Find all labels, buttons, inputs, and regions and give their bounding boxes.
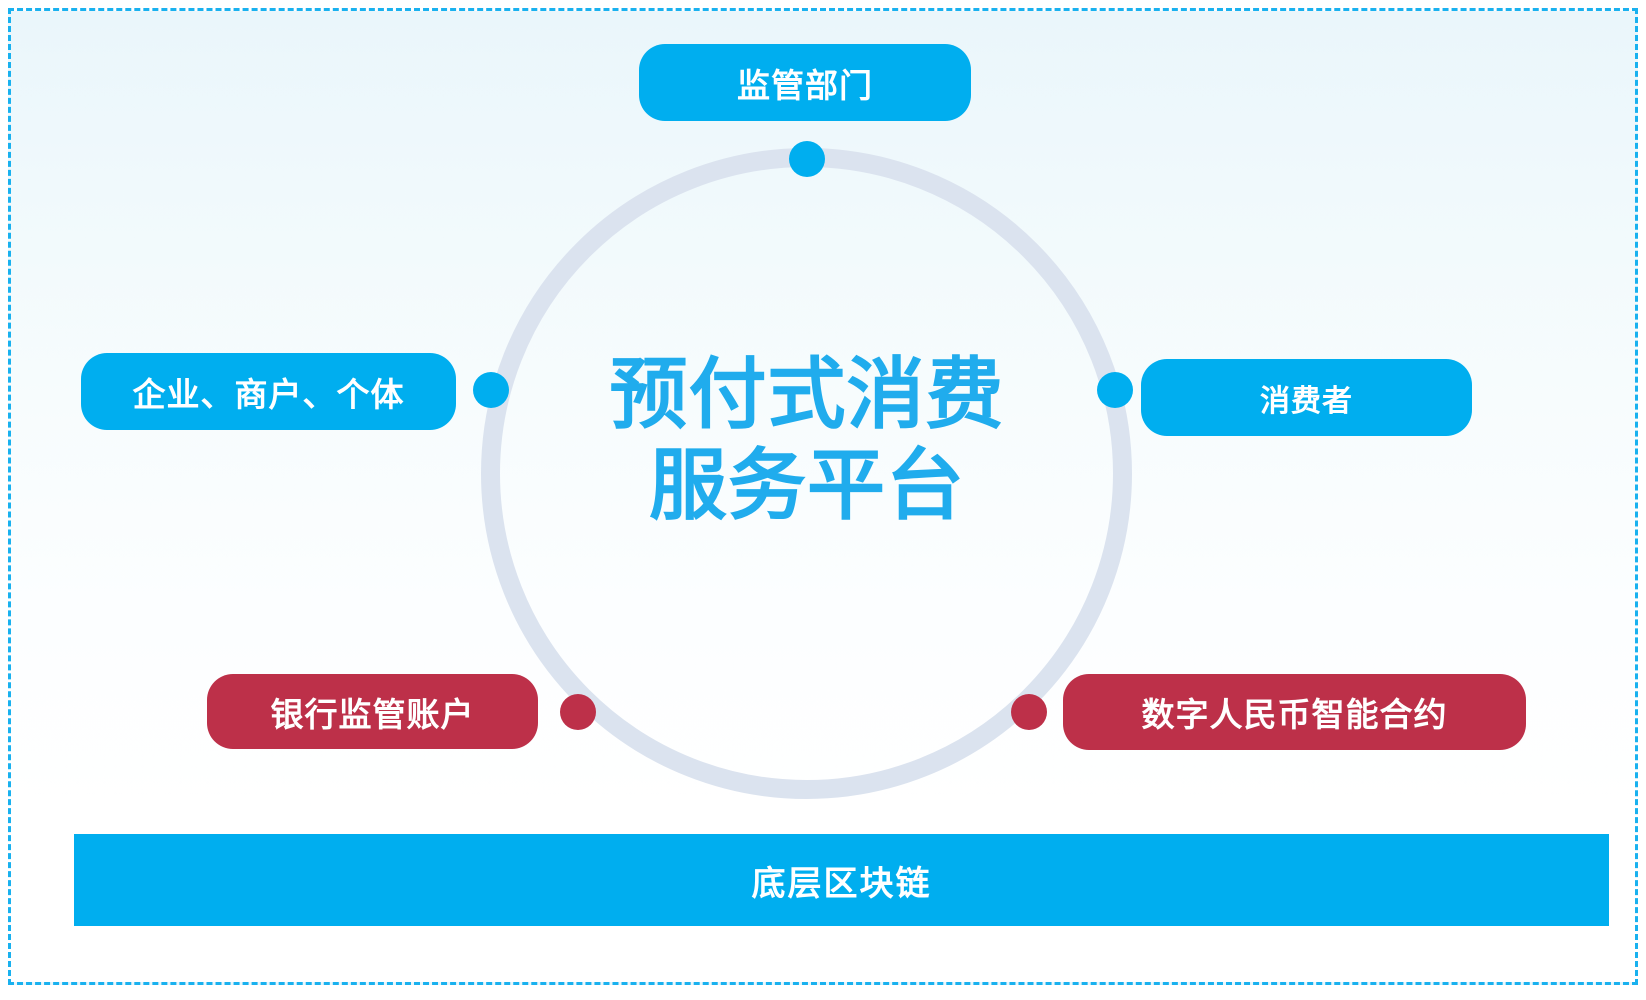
node-consumers-label: 消费者 (1260, 376, 1353, 420)
connector-dot-consumers (1097, 372, 1133, 408)
node-regulator[interactable]: 监管部门 (639, 44, 971, 121)
node-smart-contract[interactable]: 数字人民币智能合约 (1063, 674, 1526, 750)
base-layer-label: 底层区块链 (752, 856, 932, 905)
connector-dot-smart-contract (1011, 694, 1047, 730)
base-layer-bar[interactable]: 底层区块链 (74, 834, 1609, 926)
connector-dot-enterprises (473, 372, 509, 408)
node-enterprises[interactable]: 企业、商户、个体 (81, 353, 456, 430)
center-platform-title: 预付式消费 服务平台 (551, 349, 1063, 532)
diagram-canvas: 预付式消费 服务平台 监管部门 企业、商户、个体 消费者 银行监管账户 数字人民… (0, 0, 1646, 1000)
node-consumers[interactable]: 消费者 (1141, 359, 1472, 436)
node-bank-account-label: 银行监管账户 (271, 688, 475, 736)
node-bank-account[interactable]: 银行监管账户 (207, 674, 538, 749)
connector-dot-bank-account (560, 694, 596, 730)
dashed-frame: 预付式消费 服务平台 监管部门 企业、商户、个体 消费者 银行监管账户 数字人民… (8, 8, 1638, 985)
node-enterprises-label: 企业、商户、个体 (133, 368, 405, 416)
node-regulator-label: 监管部门 (737, 59, 873, 107)
node-smart-contract-label: 数字人民币智能合约 (1142, 688, 1448, 736)
connector-dot-regulator (789, 141, 825, 177)
